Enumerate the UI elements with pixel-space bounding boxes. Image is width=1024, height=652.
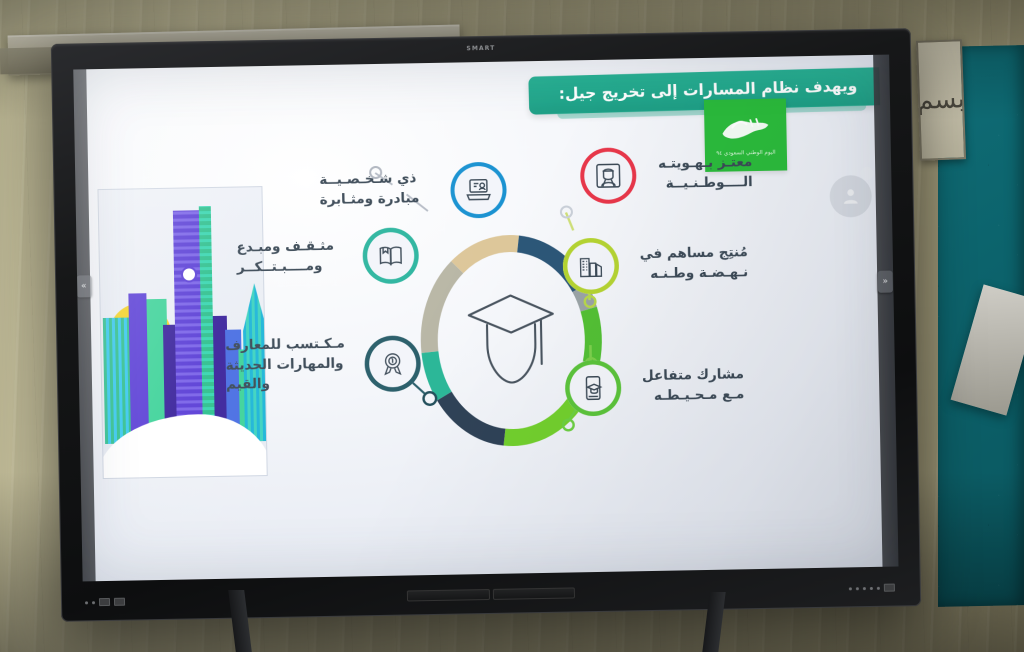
front-ports-left[interactable] [85,598,125,607]
saudi-map-calligraphy-icon [718,113,773,148]
label-identity: معتـز بـهـويتـه الــــوطـنـيــة [658,153,753,194]
indicator-led-3 [863,587,866,590]
indicator-led-4 [856,587,859,590]
city-illustration-card [97,186,267,479]
display-screen[interactable]: ويهدف نظام المسارات إلى تخريج جيل: اليوم… [73,55,898,582]
award-ribbon-icon [377,348,408,379]
presentation-slide: ويهدف نظام المسارات إلى تخريج جيل: اليوم… [73,55,898,582]
node-identity[interactable] [580,147,637,204]
indicator-led-5 [849,587,852,590]
label-skills: مـكـتسب للمعارف والمهارات الحديثة والقيم [225,334,358,395]
ring-segment-teal [430,352,444,396]
status-led [85,601,88,604]
building-stripes-far-left [103,318,131,444]
classroom-scene: بسم SMART [0,0,1024,652]
ring-segment-slate [444,395,504,438]
graduation-cap-icon [468,295,554,384]
indicator-led-1 [877,586,880,589]
brand-logo: SMART [466,45,495,53]
node-engaged[interactable] [565,360,622,417]
label-personality: ذي شـخـصـيــة مبادرة ومثـابرة [319,169,444,210]
power-button[interactable] [884,584,895,592]
open-book-icon [375,240,406,271]
speaker-grille [407,587,575,601]
collapse-right-panel-button[interactable]: « [878,271,893,293]
node-cultured[interactable] [362,227,419,284]
hdmi-port[interactable] [99,598,110,606]
front-controls-right[interactable] [849,584,895,593]
power-led [92,601,95,604]
smart-interactive-display[interactable]: SMART ويهدف نظام المسار [51,28,921,622]
mobile-graduation-icon [578,373,609,404]
node-personality[interactable] [450,162,507,219]
connector-dot-identity [560,205,573,218]
label-engaged: مشارك متفاعل مـع مـحـيـطـه [642,365,745,406]
ring-segment-green [589,309,594,363]
city-buildings-icon [576,251,607,282]
person-traditional-headwear-icon [593,160,624,191]
ring-segment-tan [457,243,519,267]
label-cultured: مثـقـف ومبـدع ومــــبـتــكــر [236,236,355,277]
indicator-led-2 [870,586,873,589]
ring-segment-taupe [428,267,459,352]
presentation-laptop-icon [463,175,494,206]
user-icon [840,185,862,207]
node-skills[interactable] [364,335,421,392]
label-productive: مُنتِج مساهم في نـهـضـة وطـنـه [640,243,749,284]
expand-left-panel-button[interactable]: » [76,275,91,297]
usb-port[interactable] [114,598,125,606]
node-productive[interactable] [562,238,619,295]
